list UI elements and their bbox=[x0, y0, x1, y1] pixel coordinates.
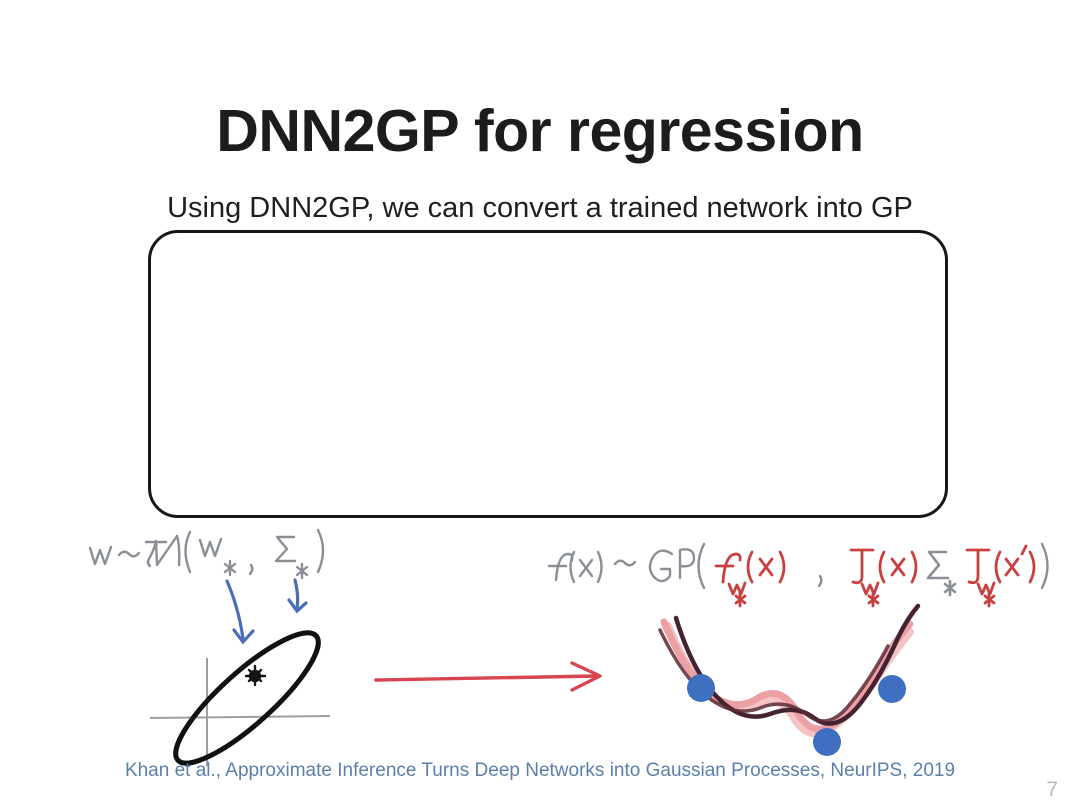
posterior-mean-marker bbox=[246, 666, 265, 685]
slide-canvas: DNN2GP for regression Using DNN2GP, we c… bbox=[0, 0, 1080, 810]
gp-formula-close-paren bbox=[1042, 544, 1048, 588]
page-title: DNN2GP for regression bbox=[0, 102, 1080, 161]
transition-arrow-icon bbox=[376, 663, 600, 690]
covariance-ellipse bbox=[160, 616, 333, 779]
slide-subtitle: Using DNN2GP, we can convert a trained n… bbox=[0, 192, 1080, 225]
content-placeholder-box bbox=[148, 230, 948, 518]
data-point bbox=[813, 728, 841, 756]
gp-formula-comma bbox=[819, 576, 821, 586]
gp-formula-prefix bbox=[549, 544, 704, 588]
gp-covariance-term bbox=[928, 552, 955, 595]
gp-mean-term bbox=[716, 552, 784, 606]
arrow-to-mean-point bbox=[227, 581, 253, 642]
gp-jacobian-term-1 bbox=[851, 550, 916, 606]
citation-reference: Khan et al., Approximate Inference Turns… bbox=[0, 760, 1080, 782]
gp-jacobian-term-2 bbox=[967, 546, 1034, 606]
data-point bbox=[687, 674, 715, 702]
arrow-to-covariance-ellipse bbox=[289, 580, 306, 611]
data-point bbox=[878, 675, 906, 703]
page-number: 7 bbox=[1046, 778, 1058, 802]
gp-sample-curves bbox=[660, 606, 918, 733]
weight-posterior-formula bbox=[90, 530, 323, 578]
